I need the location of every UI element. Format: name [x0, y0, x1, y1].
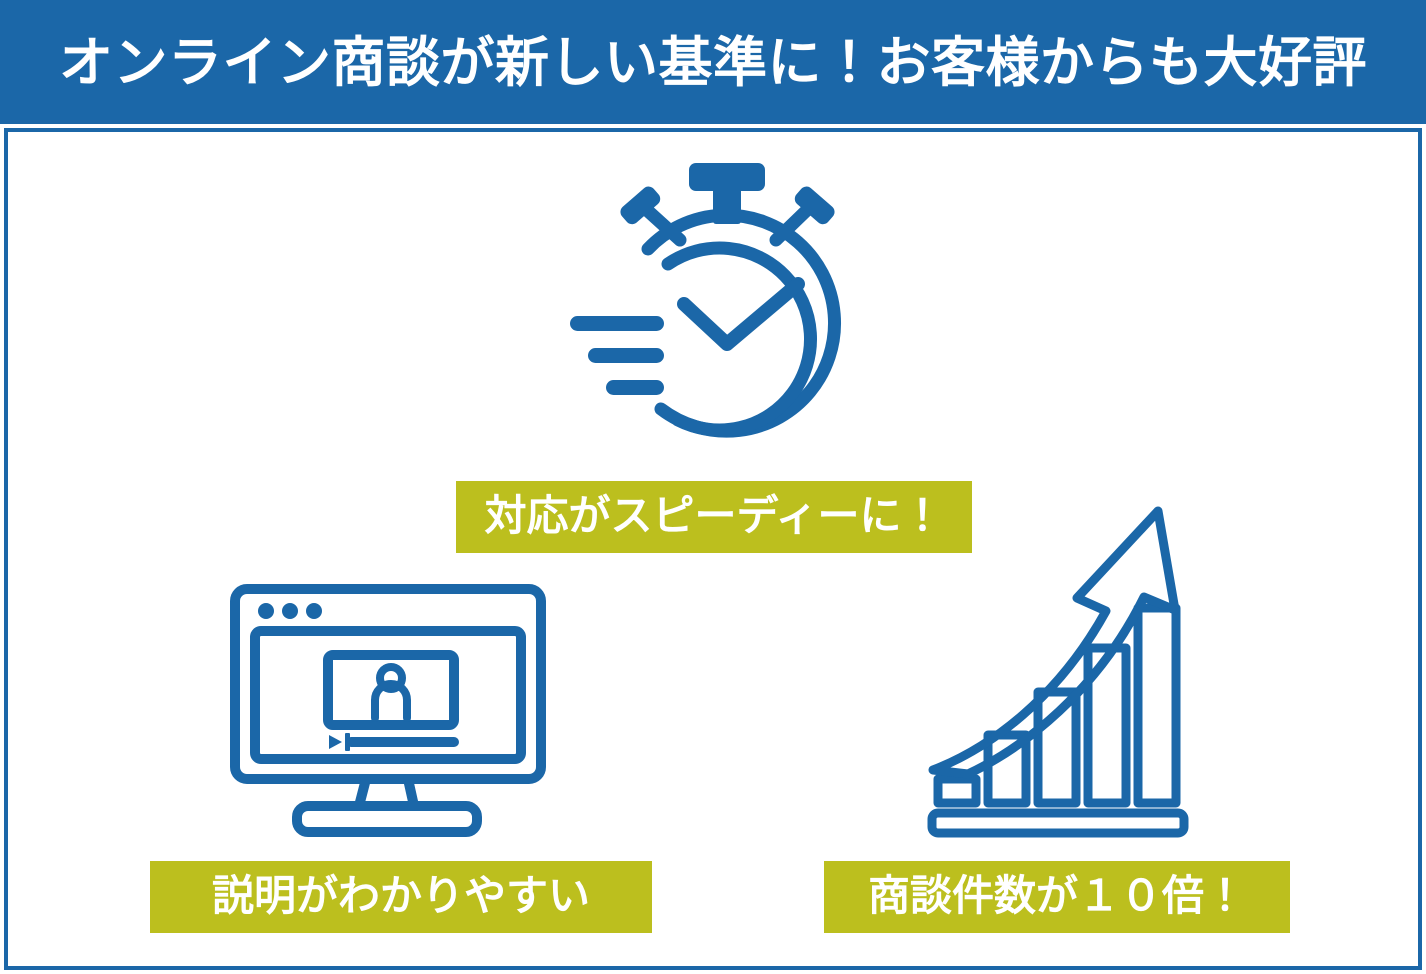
chart-bar-1: [938, 779, 976, 803]
monitor-video-icon: [228, 582, 570, 840]
label-chip-speed-text: 対応がスピーディーに！: [484, 495, 943, 537]
header-band: オンライン商談が新しい基準に！お客様からも大好評: [0, 0, 1426, 124]
label-chip-volume: 商談件数が１０倍！: [824, 861, 1290, 933]
label-chip-clarity: 説明がわかりやすい: [150, 861, 652, 933]
page-title: オンライン商談が新しい基準に！お客様からも大好評: [59, 36, 1367, 90]
label-chip-clarity-text: 説明がわかりやすい: [212, 875, 590, 917]
growth-bar-chart-icon: [930, 498, 1196, 840]
chart-baseline: [932, 813, 1184, 833]
slide-root: オンライン商談が新しい基準に！お客様からも大好評: [0, 0, 1426, 974]
label-chip-volume-text: 商談件数が１０倍！: [868, 875, 1246, 917]
label-chip-speed: 対応がスピーディーに！: [456, 481, 972, 553]
chart-bar-5: [1138, 608, 1176, 803]
stopwatch-icon: [556, 152, 896, 472]
